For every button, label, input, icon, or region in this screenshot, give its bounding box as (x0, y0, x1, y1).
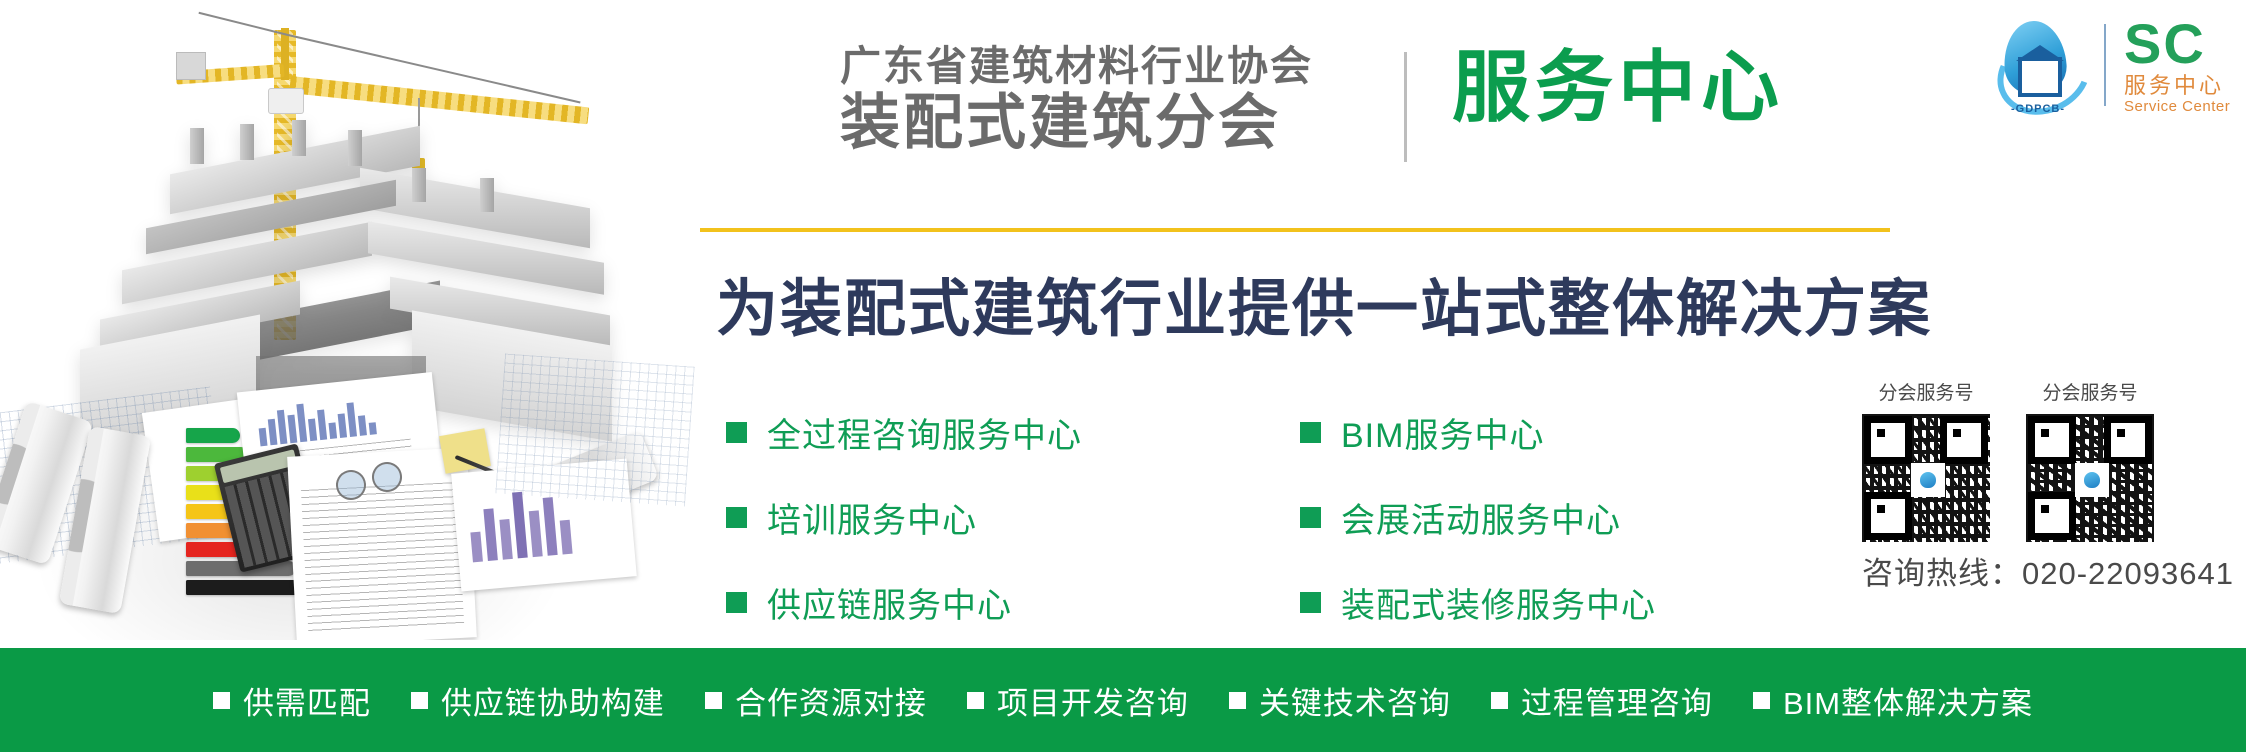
bullet-square-icon (705, 692, 722, 709)
bullet-square-icon (1229, 692, 1246, 709)
column (480, 178, 494, 212)
bullet-square-icon (1300, 422, 1321, 443)
association-line-1: 广东省建筑材料行业协会 (840, 46, 1313, 88)
qr-code-block[interactable]: 分会服务号 (1862, 378, 1990, 542)
qr-code-block[interactable]: 分会服务号 (2026, 378, 2154, 542)
qr-code-group: 分会服务号 分会服务号 (1862, 378, 2154, 542)
footer-item-label: BIM整体解决方案 (1783, 678, 2033, 723)
footer-item[interactable]: 供需匹配 (213, 678, 371, 723)
service-item-label: 供应链服务中心 (767, 578, 1012, 627)
service-item[interactable]: 培训服务中心 (726, 493, 1082, 542)
column (190, 128, 204, 164)
bullet-square-icon (1300, 507, 1321, 528)
floor-plan-grid (495, 354, 694, 507)
service-item-label: 装配式装修服务中心 (1341, 578, 1656, 627)
sc-logo: SC 服务中心 Service Center (2124, 16, 2230, 114)
service-list-right: BIM服务中心 会展活动服务中心 装配式装修服务中心 (1300, 408, 1656, 663)
bullet-square-icon (213, 692, 230, 709)
footer-item[interactable]: 供应链协助构建 (411, 678, 665, 723)
footer-item[interactable]: 关键技术咨询 (1229, 678, 1451, 723)
service-item[interactable]: BIM服务中心 (1300, 408, 1656, 457)
footer-item[interactable]: BIM整体解决方案 (1753, 678, 2033, 723)
footer-item-label: 项目开发咨询 (997, 678, 1189, 723)
promotional-banner: 广东省建筑材料行业协会 装配式建筑分会 服务中心 为装配式建筑行业提供一站式整体… (0, 0, 2246, 752)
footer-item[interactable]: 项目开发咨询 (967, 678, 1189, 723)
service-item-label: 全过程咨询服务中心 (767, 408, 1082, 457)
bullet-square-icon (1300, 592, 1321, 613)
qr-caption: 分会服务号 (2026, 378, 2154, 405)
bullet-square-icon (1491, 692, 1508, 709)
service-item[interactable]: 全过程咨询服务中心 (726, 408, 1082, 457)
qr-center-logo-icon (2075, 463, 2109, 497)
service-list-left: 全过程咨询服务中心 培训服务中心 供应链服务中心 (726, 408, 1082, 663)
bullet-square-icon (1753, 692, 1770, 709)
tagline: 为装配式建筑行业提供一站式整体解决方案 (716, 258, 1932, 348)
sc-initials: SC (2124, 16, 2230, 72)
association-title: 广东省建筑材料行业协会 装配式建筑分会 (840, 46, 1313, 153)
gdpcb-logo-icon: -GDPCB- (1990, 17, 2086, 113)
bar-chart-blue (256, 394, 377, 446)
gdpcb-logo-text: -GDPCB- (1990, 103, 2086, 115)
title-divider (1404, 52, 1407, 162)
crane-counterweight (176, 52, 206, 80)
service-item-label: 培训服务中心 (767, 493, 977, 542)
association-line-2: 装配式建筑分会 (840, 92, 1313, 153)
qr-caption: 分会服务号 (1862, 378, 1990, 405)
qr-center-logo-icon (1911, 463, 1945, 497)
qr-code-image[interactable] (2026, 414, 2154, 542)
bullet-square-icon (411, 692, 428, 709)
footer-item-label: 供应链协助构建 (441, 678, 665, 723)
footer-item-label: 供需匹配 (243, 678, 371, 723)
bullet-square-icon (726, 592, 747, 613)
service-item-label: 会展活动服务中心 (1341, 493, 1621, 542)
service-item[interactable]: 会展活动服务中心 (1300, 493, 1656, 542)
brand-logo-group: -GDPCB- SC 服务中心 Service Center (1990, 16, 2230, 114)
bullet-square-icon (726, 507, 747, 528)
column (292, 120, 306, 156)
qr-code-image[interactable] (1862, 414, 1990, 542)
footer-item-label: 过程管理咨询 (1521, 678, 1713, 723)
service-item[interactable]: 装配式装修服务中心 (1300, 578, 1656, 627)
service-item[interactable]: 供应链服务中心 (726, 578, 1082, 627)
construction-collage-image (0, 0, 700, 640)
sc-english-label: Service Center (2124, 99, 2230, 114)
footer-bar: 供需匹配 供应链协助构建 合作资源对接 项目开发咨询 关键技术咨询 过程管理咨询… (0, 648, 2246, 752)
footer-item[interactable]: 过程管理咨询 (1491, 678, 1713, 723)
hotline-text: 咨询热线：020-22093641 (1862, 548, 2234, 593)
brand-divider (2104, 24, 2106, 106)
service-item-label: BIM服务中心 (1341, 408, 1544, 457)
footer-item-label: 合作资源对接 (735, 678, 927, 723)
crane-operator-cab (268, 88, 304, 114)
sc-chinese-label: 服务中心 (2124, 75, 2230, 97)
service-center-title: 服务中心 (1452, 48, 1784, 126)
column (348, 130, 362, 166)
column (240, 124, 254, 160)
bullet-square-icon (967, 692, 984, 709)
column (412, 168, 426, 202)
yellow-divider-rule (700, 228, 1890, 232)
bullet-square-icon (726, 422, 747, 443)
footer-item-label: 关键技术咨询 (1259, 678, 1451, 723)
footer-item[interactable]: 合作资源对接 (705, 678, 927, 723)
